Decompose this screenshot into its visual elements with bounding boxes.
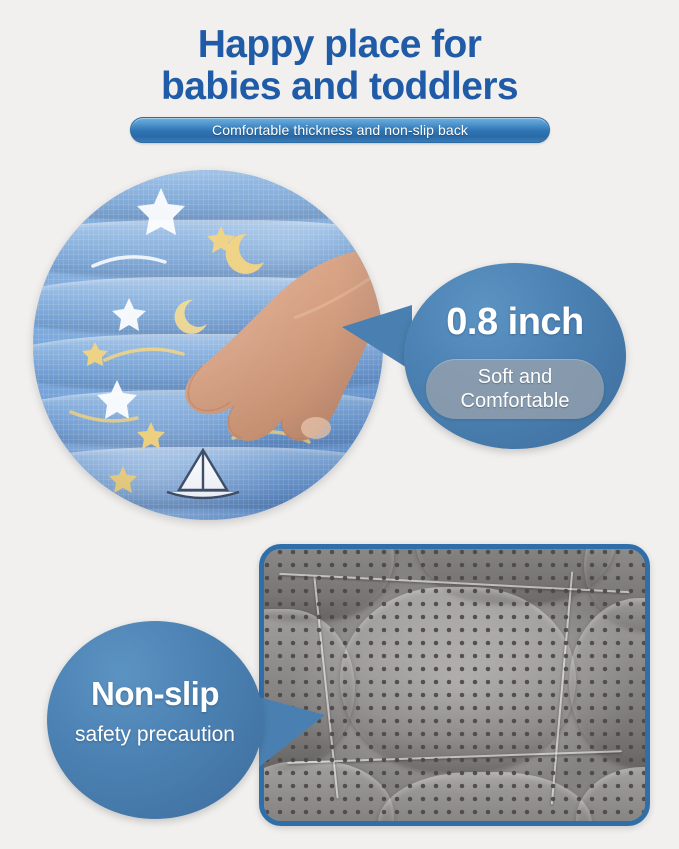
title-line-2: babies and toddlers bbox=[0, 66, 679, 108]
soft-comfortable-pill: Soft and Comfortable bbox=[426, 359, 604, 419]
circle-vignette bbox=[33, 170, 383, 520]
photo-nonslip-backing bbox=[259, 544, 650, 826]
pill-line-1: Soft and bbox=[478, 365, 553, 389]
gray-mat-surface bbox=[264, 549, 645, 821]
thickness-callout: 0.8 inch Soft and Comfortable bbox=[404, 263, 626, 449]
product-feature-graphic: Happy place for babies and toddlers Comf… bbox=[0, 0, 679, 849]
callout-tail-left bbox=[342, 305, 412, 371]
nonslip-dot-texture bbox=[264, 549, 645, 821]
nonslip-callout: Non-slip safety precaution bbox=[47, 621, 263, 819]
nonslip-subtitle: safety precaution bbox=[47, 723, 263, 747]
title-line-1: Happy place for bbox=[0, 24, 679, 66]
blue-mat-surface bbox=[33, 170, 383, 520]
subtitle-banner: Comfortable thickness and non-slip back bbox=[130, 117, 550, 143]
page-title: Happy place for babies and toddlers bbox=[0, 24, 679, 108]
callout-bubble bbox=[404, 263, 626, 449]
subtitle-text: Comfortable thickness and non-slip back bbox=[212, 122, 468, 138]
nonslip-bubble bbox=[47, 621, 263, 819]
thickness-value: 0.8 inch bbox=[404, 301, 626, 344]
photo-hand-pressing-mat bbox=[33, 170, 383, 520]
nonslip-title: Non-slip bbox=[47, 675, 263, 713]
pill-line-2: Comfortable bbox=[461, 389, 570, 413]
callout-tail-right bbox=[259, 697, 325, 767]
